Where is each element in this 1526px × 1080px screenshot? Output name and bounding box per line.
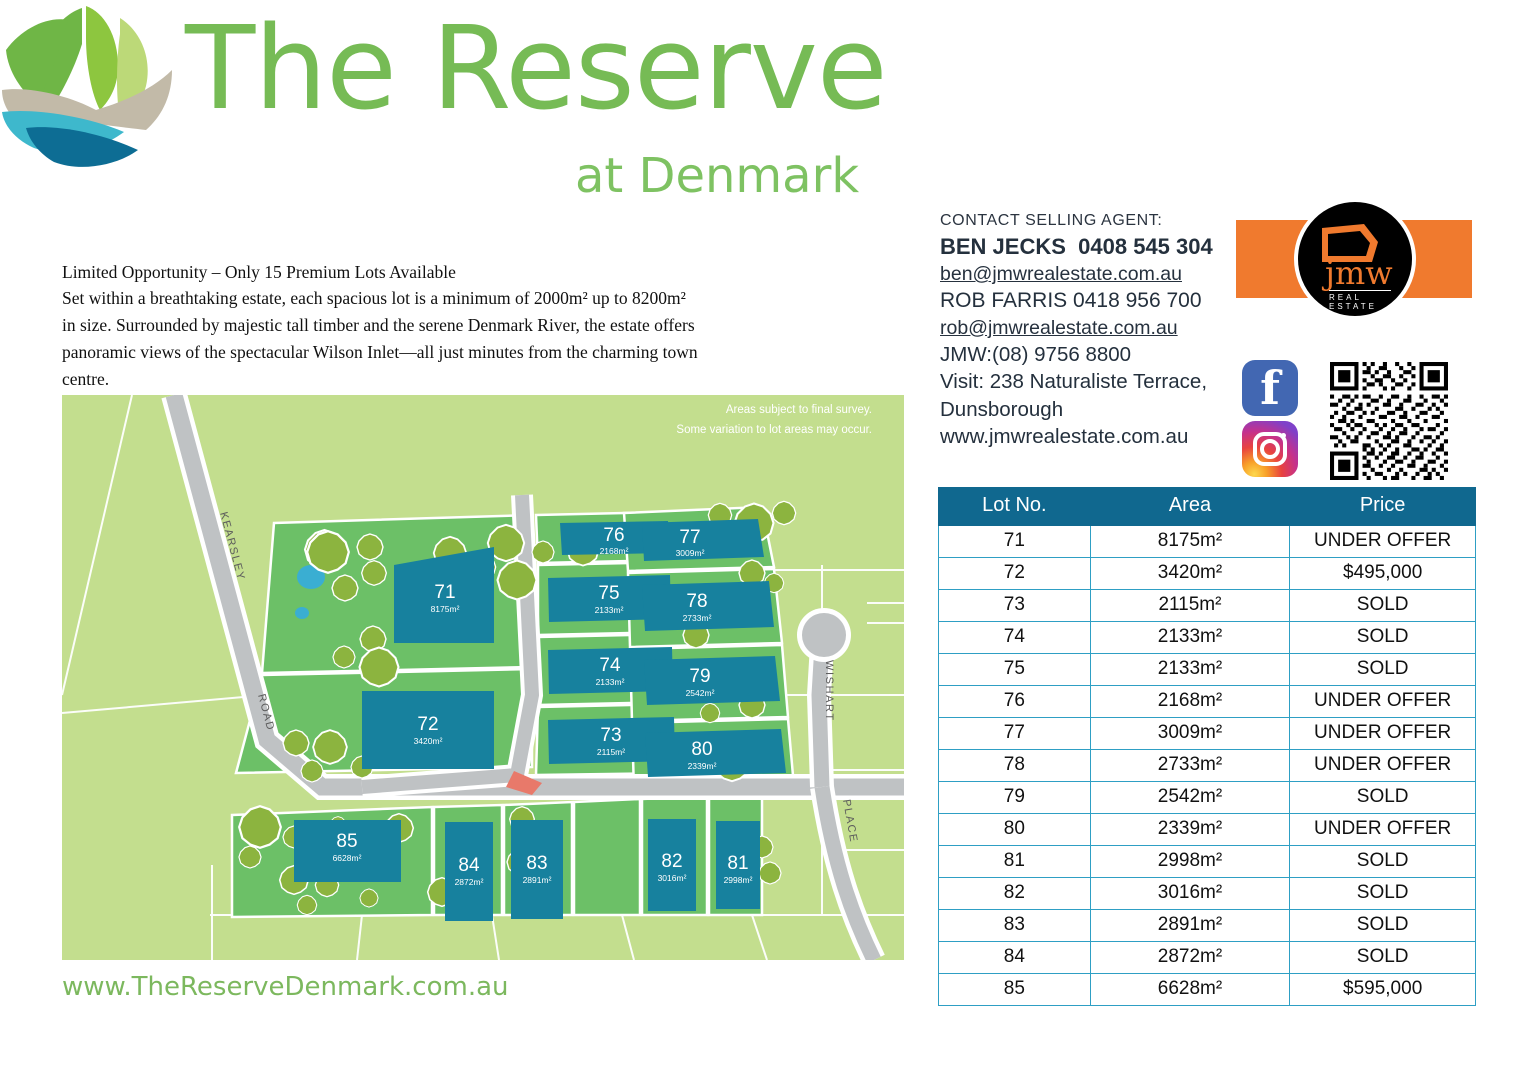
table-row[interactable]: 742133m²SOLD <box>939 622 1476 654</box>
brand-subtitle: at Denmark <box>575 148 859 204</box>
lot-cell: 83 <box>939 910 1091 942</box>
jmw-agency-logo: jmw REAL ESTATE <box>1236 220 1472 298</box>
table-row[interactable]: 856628m²$595,000 <box>939 974 1476 1006</box>
table-row[interactable]: 802339m²UNDER OFFER <box>939 814 1476 846</box>
agent-one-phone[interactable]: 0408 545 304 <box>1078 234 1213 259</box>
estate-website-url[interactable]: www.TheReserveDenmark.com.au <box>62 972 509 1002</box>
lot-num-85: 85 <box>336 831 357 852</box>
lot-area-80: 2339m² <box>688 761 717 771</box>
agency-website[interactable]: www.jmwrealestate.com.au <box>940 423 1225 450</box>
contact-block: CONTACT SELLING AGENT: BEN JECKS 0408 54… <box>940 212 1225 450</box>
price-cell: SOLD <box>1290 654 1476 686</box>
lot-cell: 71 <box>939 526 1091 558</box>
price-cell: $495,000 <box>1290 558 1476 590</box>
map-disclaimer-line1: Areas subject to final survey. <box>726 404 872 416</box>
table-row[interactable]: 762168m²UNDER OFFER <box>939 686 1476 718</box>
lot-area-79: 2542m² <box>686 688 715 698</box>
area-cell: 8175m² <box>1090 526 1290 558</box>
facebook-icon[interactable]: f <box>1242 360 1298 416</box>
area-cell: 3009m² <box>1090 718 1290 750</box>
agent-two-email[interactable]: rob@jmwrealestate.com.au <box>940 315 1225 341</box>
lot-cell: 81 <box>939 846 1091 878</box>
price-cell: UNDER OFFER <box>1290 718 1476 750</box>
table-row[interactable]: 832891m²SOLD <box>939 910 1476 942</box>
agent-one-line: BEN JECKS 0408 545 304 <box>940 233 1225 261</box>
lot-area-83: 2891m² <box>523 875 552 885</box>
office-address-line1: Visit: 238 Naturaliste Terrace, <box>940 368 1225 395</box>
area-cell: 2542m² <box>1090 782 1290 814</box>
lot-cell: 72 <box>939 558 1091 590</box>
table-header-row: Lot No. Area Price <box>939 488 1476 526</box>
estate-site-map[interactable]: 71 8175m² 72 3420m² 73 2115m² 74 2133m² … <box>62 395 904 960</box>
table-row[interactable]: 773009m²UNDER OFFER <box>939 718 1476 750</box>
qr-code-icon[interactable] <box>1330 362 1448 480</box>
agent-one-email[interactable]: ben@jmwrealestate.com.au <box>940 261 1225 287</box>
area-cell: 2733m² <box>1090 750 1290 782</box>
price-cell: $595,000 <box>1290 974 1476 1006</box>
area-cell: 2891m² <box>1090 910 1290 942</box>
lot-num-82: 82 <box>661 851 682 872</box>
lot-num-83: 83 <box>526 853 547 874</box>
price-cell: UNDER OFFER <box>1290 526 1476 558</box>
table-row[interactable]: 732115m²SOLD <box>939 590 1476 622</box>
facebook-f-glyph: f <box>1260 365 1280 411</box>
price-cell: SOLD <box>1290 782 1476 814</box>
table-row[interactable]: 723420m²$495,000 <box>939 558 1476 590</box>
table-row[interactable]: 823016m²SOLD <box>939 878 1476 910</box>
leaf-water-logo-icon <box>0 0 175 175</box>
lot-cell: 79 <box>939 782 1091 814</box>
lot-cell: 77 <box>939 718 1091 750</box>
road-label-wishart: WISHART <box>823 660 835 722</box>
brand-title: The Reserve <box>185 12 887 127</box>
area-cell: 3016m² <box>1090 878 1290 910</box>
lot-num-84: 84 <box>458 855 480 876</box>
brand-header: The Reserve at Denmark <box>0 0 900 205</box>
agent-two-line: ROB FARRIS 0418 956 700 <box>940 287 1225 314</box>
intro-body: Set within a breathtaking estate, each s… <box>62 285 702 394</box>
office-address-line2: Dunsborough <box>940 396 1225 423</box>
instagram-dot <box>1281 433 1286 438</box>
lot-area-75: 2133m² <box>595 605 624 615</box>
price-cell: UNDER OFFER <box>1290 686 1476 718</box>
lot-num-74: 74 <box>599 655 621 676</box>
price-cell: UNDER OFFER <box>1290 814 1476 846</box>
lot-num-79: 79 <box>689 666 710 687</box>
column-header-price: Price <box>1290 488 1476 526</box>
column-header-lot: Lot No. <box>939 488 1091 526</box>
lot-area-73: 2115m² <box>597 747 625 757</box>
price-cell: SOLD <box>1290 590 1476 622</box>
lot-num-81: 81 <box>727 853 748 874</box>
price-cell: SOLD <box>1290 878 1476 910</box>
lot-cell: 73 <box>939 590 1091 622</box>
lot-area-77: 3009m² <box>676 548 705 558</box>
lot-num-75: 75 <box>598 583 619 604</box>
table-row[interactable]: 842872m²SOLD <box>939 942 1476 974</box>
column-header-area: Area <box>1090 488 1290 526</box>
table-row[interactable]: 792542m²SOLD <box>939 782 1476 814</box>
lot-cell: 76 <box>939 686 1091 718</box>
table-row[interactable]: 718175m²UNDER OFFER <box>939 526 1476 558</box>
lot-cell: 74 <box>939 622 1091 654</box>
lot-area-85: 6628m² <box>333 853 362 863</box>
lot-area-78: 2733m² <box>683 613 712 623</box>
price-cell: SOLD <box>1290 910 1476 942</box>
area-cell: 2339m² <box>1090 814 1290 846</box>
area-cell: 6628m² <box>1090 974 1290 1006</box>
lot-area-84: 2872m² <box>455 877 484 887</box>
lot-cell: 84 <box>939 942 1091 974</box>
price-cell: UNDER OFFER <box>1290 750 1476 782</box>
lot-block-78[interactable] <box>642 581 774 631</box>
lot-area-71: 8175m² <box>431 604 460 614</box>
area-cell: 2168m² <box>1090 686 1290 718</box>
area-cell: 2133m² <box>1090 654 1290 686</box>
lot-cell: 85 <box>939 974 1091 1006</box>
table-row[interactable]: 812998m²SOLD <box>939 846 1476 878</box>
table-row[interactable]: 782733m²UNDER OFFER <box>939 750 1476 782</box>
area-cell: 2115m² <box>1090 590 1290 622</box>
area-cell: 2872m² <box>1090 942 1290 974</box>
jmw-black-circle: jmw REAL ESTATE <box>1294 198 1416 320</box>
price-cell: SOLD <box>1290 622 1476 654</box>
area-cell: 2133m² <box>1090 622 1290 654</box>
area-cell: 2998m² <box>1090 846 1290 878</box>
agent-two-name: ROB FARRIS <box>940 289 1067 312</box>
jmw-wordmark: jmw <box>1325 254 1393 292</box>
lot-area-81: 2998m² <box>724 875 753 885</box>
lot-num-71: 71 <box>434 582 455 603</box>
instagram-icon[interactable] <box>1242 421 1298 477</box>
lot-num-80: 80 <box>691 739 712 760</box>
jmw-tagline: REAL ESTATE <box>1329 290 1391 311</box>
site-map-svg[interactable]: 71 8175m² 72 3420m² 73 2115m² 74 2133m² … <box>62 395 904 960</box>
agent-two-phone[interactable]: 0418 956 700 <box>1073 289 1201 312</box>
office-phone[interactable]: JMW:(08) 9756 8800 <box>940 341 1225 368</box>
price-cell: SOLD <box>1290 846 1476 878</box>
lot-num-77: 77 <box>679 527 700 548</box>
lot-cell: 78 <box>939 750 1091 782</box>
intro-headline: Limited Opportunity – Only 15 Premium Lo… <box>62 262 702 283</box>
agent-one-name: BEN JECKS <box>940 234 1066 259</box>
lot-price-table[interactable]: Lot No. Area Price 718175m²UNDER OFFER72… <box>938 487 1476 1006</box>
lot-num-78: 78 <box>686 591 707 612</box>
table-row[interactable]: 752133m²SOLD <box>939 654 1476 686</box>
lot-num-76: 76 <box>603 525 624 546</box>
contact-heading: CONTACT SELLING AGENT: <box>940 212 1225 230</box>
intro-copy: Limited Opportunity – Only 15 Premium Lo… <box>62 262 702 394</box>
lot-area-82: 3016m² <box>658 873 687 883</box>
lot-area-76: 2168m² <box>600 546 629 556</box>
instagram-lens <box>1260 439 1280 459</box>
lot-cell: 80 <box>939 814 1091 846</box>
area-cell: 3420m² <box>1090 558 1290 590</box>
lot-num-72: 72 <box>417 714 438 735</box>
lot-area-74: 2133m² <box>596 677 625 687</box>
map-disclaimer-line2: Some variation to lot areas may occur. <box>676 424 872 436</box>
lot-cell: 75 <box>939 654 1091 686</box>
lot-cell: 82 <box>939 878 1091 910</box>
lot-num-73: 73 <box>600 725 621 746</box>
price-cell: SOLD <box>1290 942 1476 974</box>
lot-area-72: 3420m² <box>414 736 443 746</box>
